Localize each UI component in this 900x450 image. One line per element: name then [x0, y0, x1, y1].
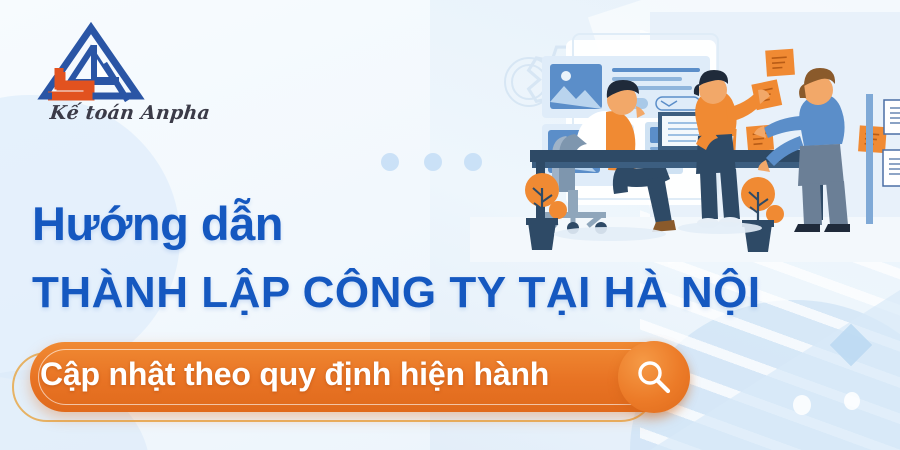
promo-banner: Kế toán Anpha [0, 0, 900, 450]
search-icon [636, 359, 672, 395]
brand-name: Kế toán Anpha [49, 102, 211, 124]
decor-dot [424, 153, 442, 171]
page-title-line1: Hướng dẫn [32, 196, 283, 251]
decor-dot [381, 153, 399, 171]
cta-label: Cập nhật theo quy định hiện hành [40, 356, 549, 393]
search-button[interactable] [618, 341, 690, 413]
brand-logo: Kế toán Anpha [28, 22, 153, 117]
office-teamwork-illustration [470, 12, 900, 262]
decor-dot-white [844, 392, 860, 410]
page-title-line2: THÀNH LẬP CÔNG TY TẠI HÀ NỘI [32, 268, 761, 318]
decor-dot-white [793, 395, 811, 415]
